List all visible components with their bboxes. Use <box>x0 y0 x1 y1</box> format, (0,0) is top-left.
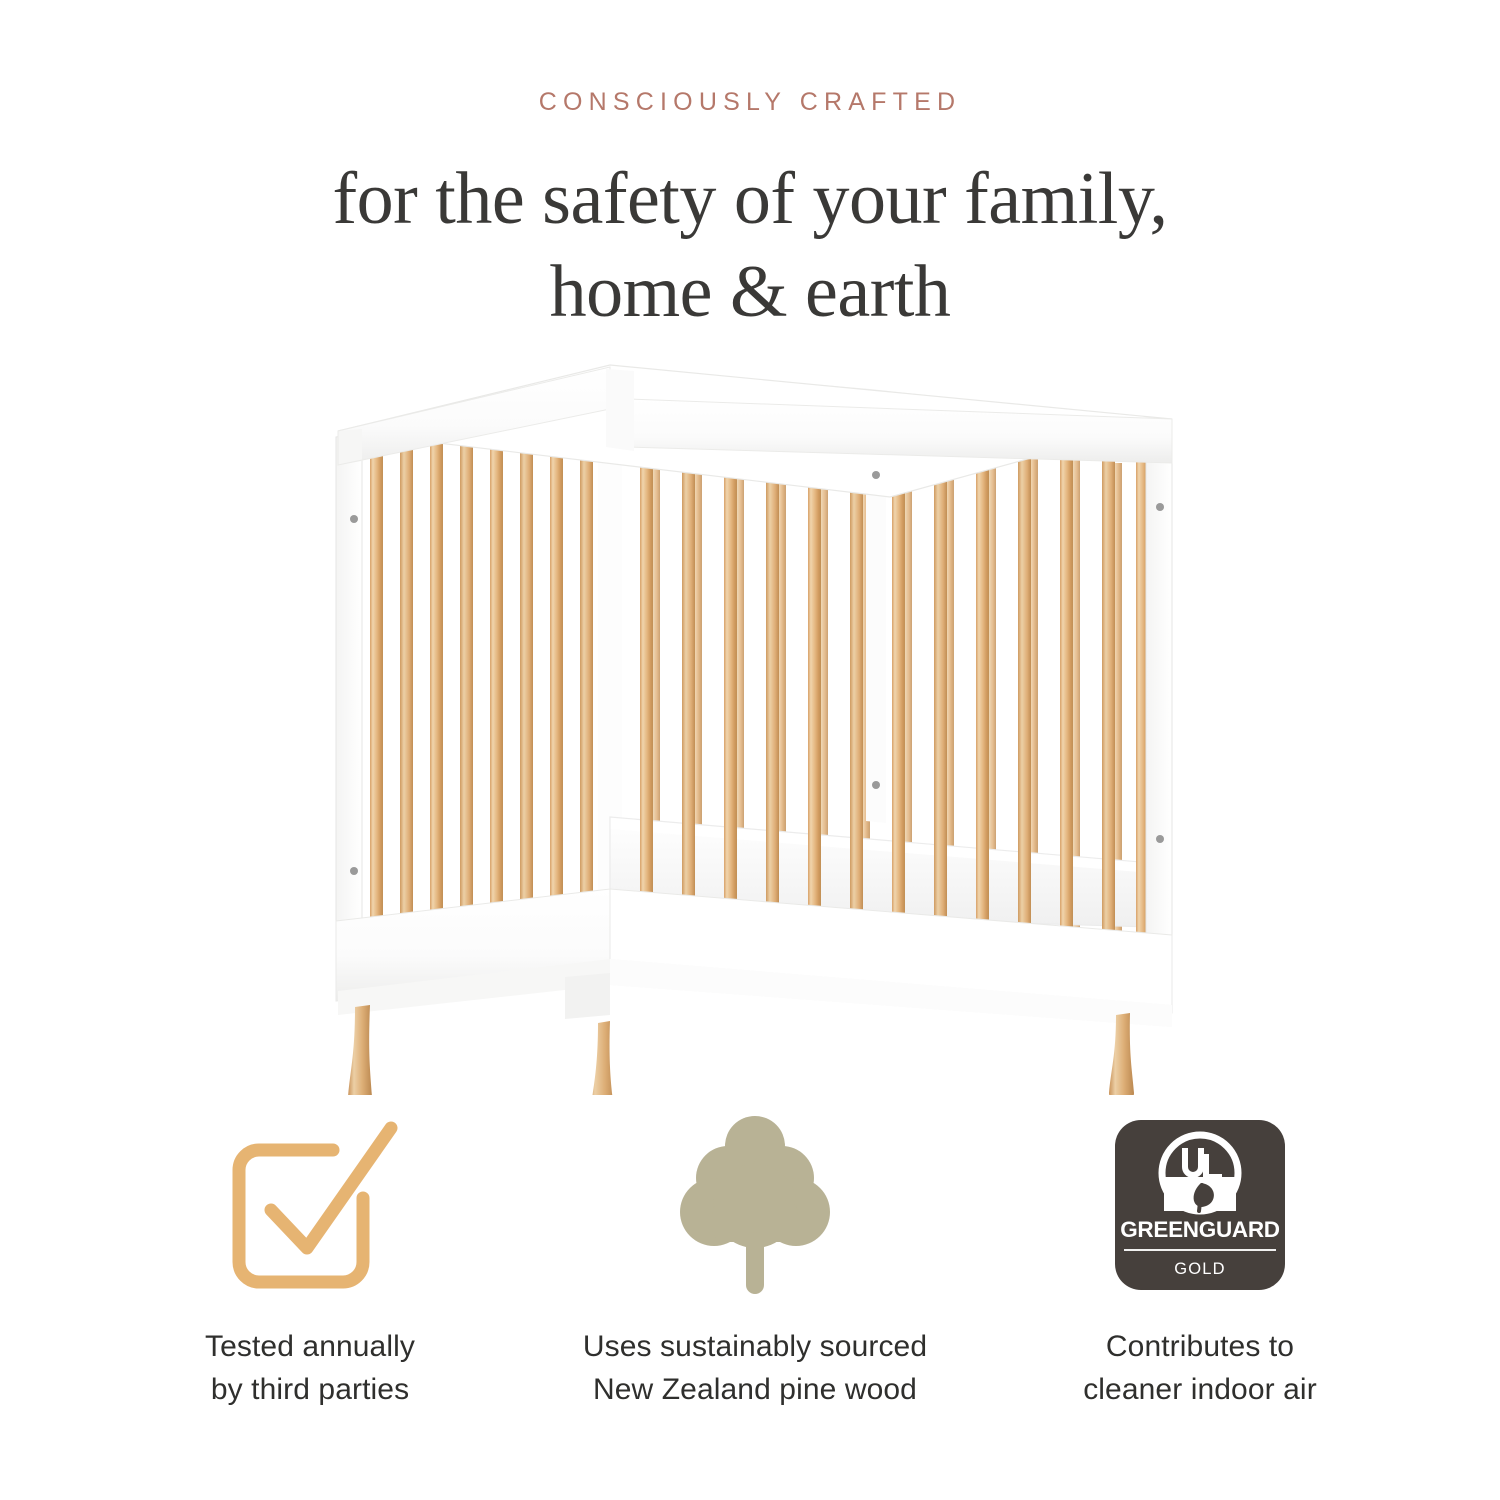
feature-caption-line-1: Uses sustainably sourced <box>555 1326 955 1369</box>
feature-icon-wrap <box>110 1110 510 1300</box>
feature-tested-annually: Tested annually by third parties <box>110 1110 510 1411</box>
feature-caption: Tested annually by third parties <box>110 1326 510 1411</box>
headline-line-2: home & earth <box>0 246 1500 339</box>
eyebrow-text: CONSCIOUSLY CRAFTED <box>0 88 1500 117</box>
page-title: for the safety of your family, home & ea… <box>0 153 1500 338</box>
badge-divider <box>1124 1249 1276 1251</box>
crib-legs <box>348 1005 1134 1095</box>
greenguard-gold-badge-icon: GREENGUARD GOLD <box>1115 1120 1285 1290</box>
feature-caption-line-1: Contributes to <box>1000 1326 1400 1369</box>
feature-icon-wrap <box>555 1110 955 1300</box>
checkbox-check-icon <box>215 1114 405 1296</box>
feature-caption-line-1: Tested annually <box>110 1326 510 1369</box>
greenguard-tier: GOLD <box>1174 1260 1226 1279</box>
feature-caption-line-2: by third parties <box>110 1369 510 1412</box>
feature-icon-wrap: GREENGUARD GOLD <box>1000 1110 1400 1300</box>
feature-caption-line-2: New Zealand pine wood <box>555 1369 955 1412</box>
ul-mark-icon <box>1158 1131 1242 1215</box>
header: CONSCIOUSLY CRAFTED for the safety of yo… <box>0 0 1500 338</box>
headline-line-1: for the safety of your family, <box>0 153 1500 246</box>
crib-product-image <box>310 355 1190 1095</box>
feature-caption: Uses sustainably sourced New Zealand pin… <box>555 1326 955 1411</box>
feature-caption-line-2: cleaner indoor air <box>1000 1369 1400 1412</box>
feature-list: Tested annually by third parties Uses <box>110 1110 1400 1411</box>
feature-caption: Contributes to cleaner indoor air <box>1000 1326 1400 1411</box>
product-image-stage <box>0 355 1500 1115</box>
greenguard-word: GREENGUARD <box>1120 1219 1280 1242</box>
feature-sustainable-wood: Uses sustainably sourced New Zealand pin… <box>555 1110 955 1411</box>
tree-icon <box>680 1114 830 1296</box>
feature-greenguard-gold: GREENGUARD GOLD Contributes to cleaner i… <box>1000 1110 1400 1411</box>
